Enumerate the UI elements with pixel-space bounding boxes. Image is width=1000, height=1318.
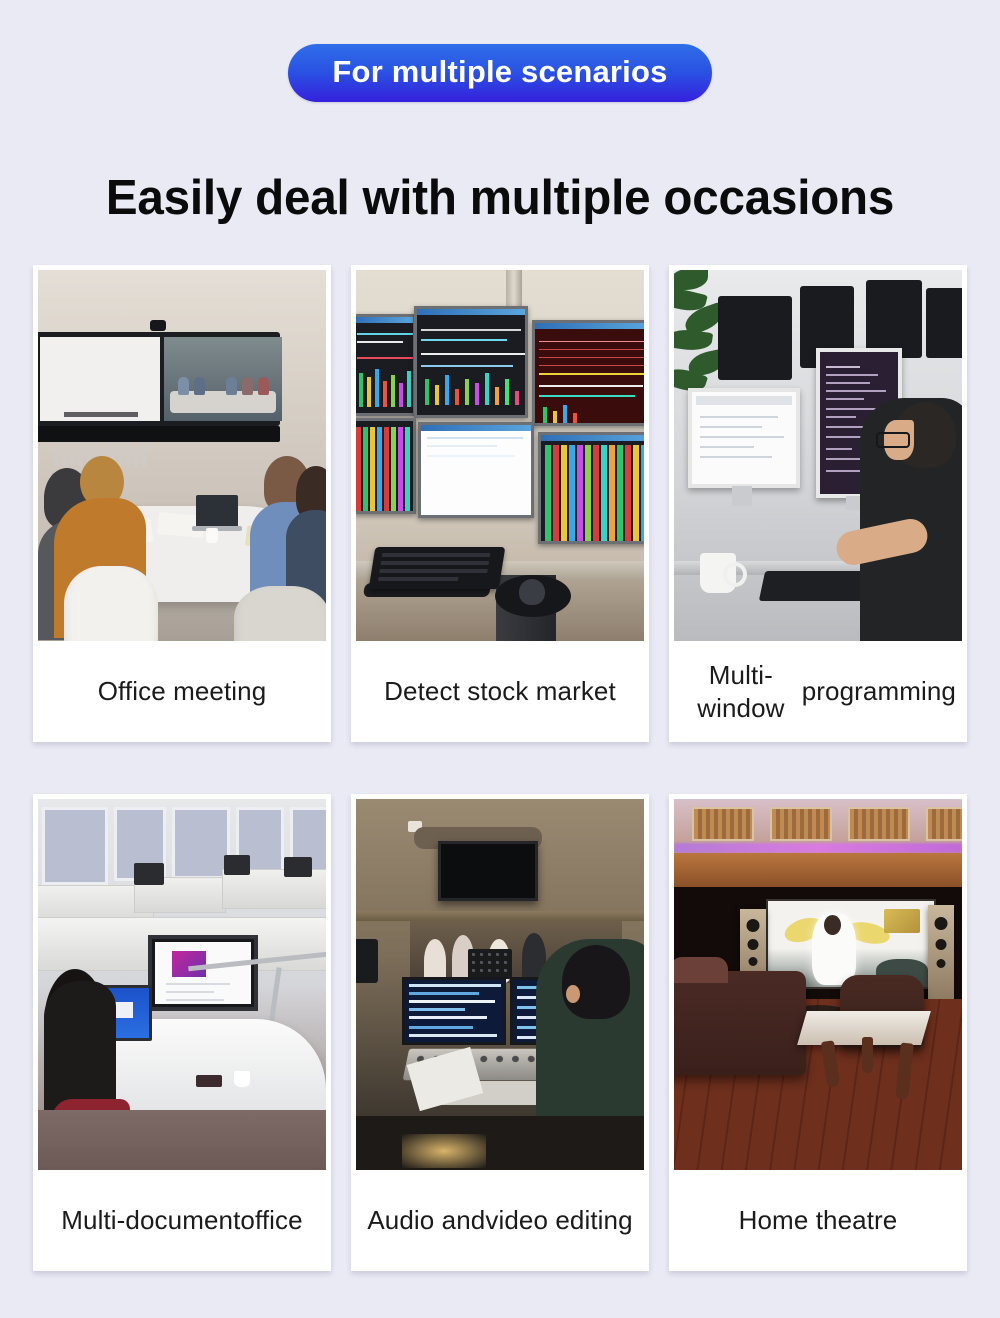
scenario-card-multi-window-programming[interactable]: Multi-window programming xyxy=(669,265,967,742)
caption-line-1: Audio and xyxy=(367,1204,485,1237)
multi-window-programming-photo xyxy=(674,270,962,641)
detect-stock-market-photo xyxy=(356,270,644,641)
scenario-card-detect-stock-market[interactable]: Detect stock market xyxy=(351,265,649,742)
caption-multi-document-office: Multi-document office xyxy=(38,1170,326,1271)
multi-document-office-photo xyxy=(38,799,326,1170)
scenario-row-2: Multi-document office xyxy=(33,794,967,1271)
office-meeting-photo xyxy=(38,270,326,641)
scenarios-section: For multiple scenarios Easily deal with … xyxy=(0,0,1000,1318)
scenario-row-1: Office meeting xyxy=(33,265,967,742)
caption-multi-window-programming: Multi-window programming xyxy=(674,641,962,742)
badge-row: For multiple scenarios xyxy=(0,44,1000,102)
caption-line-2: video editing xyxy=(485,1204,632,1237)
caption-line-1: Multi-document xyxy=(61,1204,240,1237)
scenario-card-audio-video-editing[interactable]: Audio and video editing xyxy=(351,794,649,1271)
caption-line-2: office xyxy=(240,1204,302,1237)
scenario-card-office-meeting[interactable]: Office meeting xyxy=(33,265,331,742)
audio-video-editing-photo xyxy=(356,799,644,1170)
scenario-grid: Office meeting xyxy=(33,265,967,1271)
caption-audio-video-editing: Audio and video editing xyxy=(356,1170,644,1271)
section-badge: For multiple scenarios xyxy=(288,44,711,102)
caption-home-theatre: Home theatre xyxy=(674,1170,962,1271)
caption-line-2: programming xyxy=(802,675,956,708)
caption-line-1: Multi-window xyxy=(680,659,802,725)
caption-detect-stock-market: Detect stock market xyxy=(356,641,644,742)
caption-office-meeting: Office meeting xyxy=(38,641,326,742)
page-title: Easily deal with multiple occasions xyxy=(15,169,985,227)
home-theatre-photo xyxy=(674,799,962,1170)
scenario-card-home-theatre[interactable]: Home theatre xyxy=(669,794,967,1271)
scenario-card-multi-document-office[interactable]: Multi-document office xyxy=(33,794,331,1271)
